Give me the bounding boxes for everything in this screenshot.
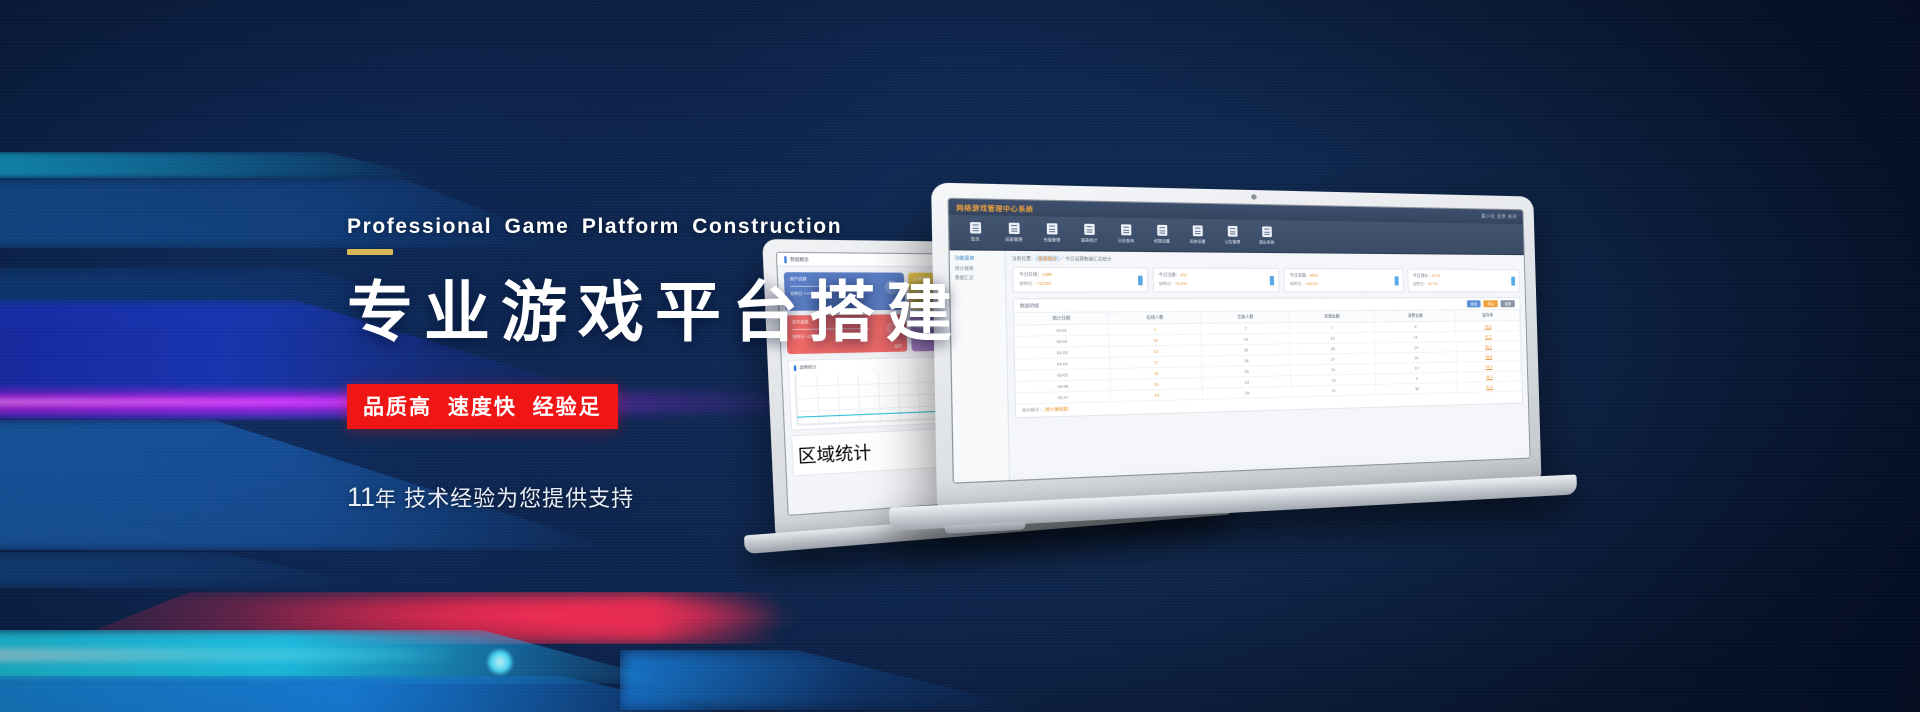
query-button[interactable]: 查询	[1467, 300, 1481, 307]
stat-label-row: 今日充值：8620	[1290, 273, 1397, 279]
breadcrumb-suffix: ／ 今日运营数据汇总统计	[1059, 256, 1111, 262]
streak-red	[60, 592, 780, 644]
table-header-cell[interactable]: 留存率	[1455, 310, 1519, 321]
app-main: 当前位置：报表统计／ 今日运营数据汇总统计 今日在线：1286 较昨日：+12.…	[1006, 251, 1530, 480]
reset-button[interactable]: 重置	[1501, 300, 1515, 307]
log-icon	[1120, 224, 1130, 235]
streak-blue-tail	[620, 650, 1040, 710]
table-buttons: 查询 导出 重置	[1467, 300, 1515, 307]
years-unit: 年	[375, 488, 397, 511]
stat-sub-value: +9.7%	[1427, 282, 1437, 286]
stat-value: 432	[1180, 273, 1187, 277]
stat-value: 8620	[1310, 273, 1319, 277]
streak-dark	[0, 552, 380, 588]
window-controls[interactable]: 最小化 还原 关闭	[1481, 213, 1517, 220]
copy-block: Professional Game Platform Construction …	[347, 216, 1047, 513]
webcam-icon	[1251, 194, 1256, 199]
recharge-icon	[1046, 223, 1057, 234]
stat-label-row: 今日流水：5174	[1413, 274, 1514, 279]
toolbar-label: 日志查询	[1118, 239, 1134, 245]
report-icon	[1084, 224, 1095, 235]
table-header-cell[interactable]: 充值金额	[1289, 311, 1374, 323]
toolbar-button-log[interactable]: 日志查询	[1108, 224, 1143, 244]
badge-wrap: 品质高 速度快 经验足	[347, 384, 618, 429]
stat-sub-row: 较昨日：+6.2%	[1159, 282, 1273, 287]
headline-text: 专业游戏平台搭建	[347, 277, 1047, 348]
table-body: 03-01 1 7 7 8 53.6	[1014, 321, 1521, 405]
app-title: 网络游戏管理中心系统	[956, 202, 1033, 214]
stat-sub-row: 较昨日：+18.3%	[1290, 282, 1397, 287]
gold-rule	[347, 249, 393, 255]
stat-sub-label: 较昨日：	[1413, 282, 1427, 286]
toolbar-button-report[interactable]: 报表统计	[1071, 224, 1106, 244]
stat-sub-value: +18.3%	[1305, 282, 1318, 286]
years-number: 11	[347, 482, 375, 512]
toolbar-label: 退出系统	[1259, 240, 1274, 245]
bar-icon	[1270, 275, 1274, 285]
experience-line: 11年 技术经验为您提供支持	[347, 481, 1047, 513]
stat-label: 今日流水：	[1413, 274, 1432, 278]
toolbar-label: 报表统计	[1081, 238, 1098, 244]
summary-stats: 今日在线：1286 较昨日：+12.5% 今日注册：432 较昨日：+6.2%	[1012, 267, 1520, 293]
toolbar-button-settings[interactable]: 系统设置	[1181, 225, 1214, 245]
toolbar-label: 系统设置	[1189, 239, 1205, 245]
bar-icon	[1511, 276, 1515, 285]
eyebrow-text: Professional Game Platform Construction	[347, 216, 1047, 237]
summary-stat: 今日充值：8620 较昨日：+18.3%	[1283, 268, 1403, 292]
stat-sub-value: +6.2%	[1175, 282, 1187, 286]
toolbar-label: 公告管理	[1225, 240, 1241, 246]
streak-cyan-top	[0, 152, 430, 178]
streak-red-core	[240, 606, 800, 626]
summary-stat: 今日流水：5174 较昨日：+9.7%	[1407, 269, 1520, 293]
data-table: 统计日期 在线人数 注册人数 充值金额 消费金额 留存率	[1014, 310, 1522, 405]
exit-icon	[1262, 226, 1272, 237]
table-cell: 53.6	[1456, 321, 1520, 332]
toolbar-button-exit[interactable]: 退出系统	[1250, 226, 1282, 246]
bar-icon	[1394, 276, 1398, 285]
summary-stat: 今日注册：432 较昨日：+6.2%	[1152, 267, 1280, 292]
settings-icon	[1192, 225, 1202, 236]
stat-label: 今日注册：	[1159, 273, 1180, 277]
table-header-cell[interactable]: 注册人数	[1200, 311, 1289, 323]
stat-label: 今日充值：	[1290, 273, 1310, 277]
table-header-cell[interactable]: 消费金额	[1374, 311, 1456, 322]
table-header-cell[interactable]: 在线人数	[1108, 312, 1201, 324]
stat-sub-label: 较昨日：	[1159, 282, 1175, 286]
permission-icon	[1157, 225, 1167, 236]
experience-text: 技术经验为您提供支持	[404, 486, 634, 511]
glow-dot	[486, 648, 514, 676]
selling-points-badge: 品质高 速度快 经验足	[347, 384, 618, 429]
stat-sub-label: 较昨日：	[1290, 282, 1305, 286]
breadcrumb: 当前位置：报表统计／ 今日运营数据汇总统计	[1012, 255, 1520, 265]
stat-label-row: 今日注册：432	[1159, 273, 1273, 279]
toolbar-button-permission[interactable]: 权限设置	[1145, 225, 1179, 245]
promo-banner: Professional Game Platform Construction …	[0, 0, 1920, 712]
data-table-box: 数据明细 查询 导出 重置	[1013, 297, 1524, 418]
table-footer-value: 共 7 条记录	[1043, 407, 1069, 412]
toolbar-label: 权限设置	[1154, 239, 1170, 245]
stat-sub-row: 较昨日：+9.7%	[1413, 282, 1514, 287]
notice-icon	[1227, 226, 1237, 237]
export-button[interactable]: 导出	[1484, 300, 1498, 307]
streak-blue-bottom	[0, 676, 760, 712]
stat-value: 5174	[1432, 274, 1440, 278]
toolbar-button-notice[interactable]: 公告管理	[1216, 226, 1249, 246]
streak-cyan-bottom	[0, 630, 680, 684]
streak-cyan-core	[0, 648, 460, 662]
bar-icon	[1137, 275, 1142, 285]
